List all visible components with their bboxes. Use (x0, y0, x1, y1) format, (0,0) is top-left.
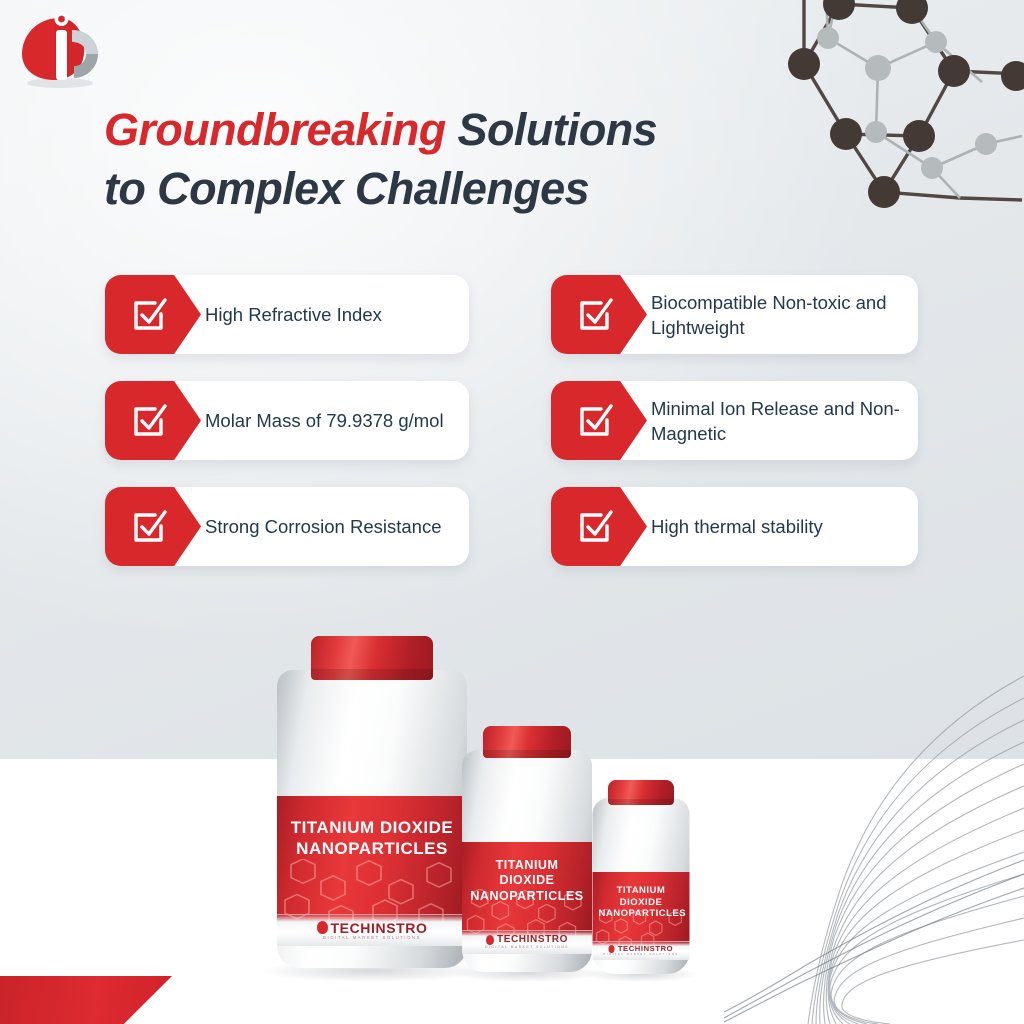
headline-line-2: to Complex Challenges (104, 159, 804, 218)
checkbox-checked-icon (105, 381, 201, 460)
checkbox-checked-icon (105, 487, 201, 566)
brand-name: TECHINSTRO (618, 945, 673, 953)
headline-accent-word: Groundbreaking (104, 104, 446, 155)
product-bottle-large[interactable]: TITANIUM DIOXIDE NANOPARTICLES TECHINSTR… (268, 636, 476, 982)
techinstro-logo-icon (14, 4, 106, 90)
brand-mark-icon (609, 945, 615, 953)
bottle-label-title: TITANIUM DIOXIDE NANOPARTICLES (593, 872, 690, 920)
checkbox-checked-icon (551, 275, 647, 354)
product-bottle-medium[interactable]: TITANIUM DIOXIDE NANOPARTICLES TECHINSTR… (457, 726, 597, 982)
bottle-body: TITANIUM DIOXIDE NANOPARTICLES TECHINSTR… (593, 798, 690, 974)
brand-mark-icon (486, 935, 494, 945)
bottle-label-title: TITANIUM DIOXIDE NANOPARTICLES (277, 796, 467, 859)
feature-card[interactable]: Molar Mass of 79.9378 g/mol (105, 381, 469, 460)
bottle-label-title: TITANIUM DIOXIDE NANOPARTICLES (462, 842, 592, 904)
brand-mark-icon (317, 921, 328, 934)
bottle-cap (608, 780, 674, 805)
bottle-label: TITANIUM DIOXIDE NANOPARTICLES TECHINSTR… (462, 842, 592, 954)
feature-label: Strong Corrosion Resistance (205, 514, 456, 539)
feature-label: Molar Mass of 79.9378 g/mol (205, 408, 458, 433)
bottle-body: TITANIUM DIOXIDE NANOPARTICLES TECHINSTR… (277, 670, 467, 968)
checkbox-checked-icon (105, 275, 201, 354)
product-bottle-small[interactable]: TITANIUM DIOXIDE NANOPARTICLES TECHINSTR… (589, 780, 693, 982)
feature-card[interactable]: Biocompatible Non-toxic and Lightweight (551, 275, 918, 354)
brand-name: TECHINSTRO (331, 921, 428, 935)
bottle-body: TITANIUM DIOXIDE NANOPARTICLES TECHINSTR… (462, 750, 592, 972)
feature-card[interactable]: High thermal stability (551, 487, 918, 566)
feature-label: High thermal stability (651, 514, 837, 539)
infographic-canvas: Groundbreaking Solutions to Complex Chal… (0, 0, 1024, 1024)
feature-label: High Refractive Index (205, 302, 396, 327)
bottle-cap (483, 726, 571, 758)
bottle-brand-block: TECHINSTRO DIGITAL MARKET SOLUTIONS (277, 914, 467, 946)
brand-tagline: DIGITAL MARKET SOLUTIONS (323, 936, 421, 940)
feature-row: Strong Corrosion Resistance High thermal… (105, 487, 920, 566)
bottle-label: TITANIUM DIOXIDE NANOPARTICLES TECHINSTR… (277, 796, 467, 946)
brand-tagline: DIGITAL MARKET SOLUTIONS (485, 946, 569, 949)
headline-line-1: Groundbreaking Solutions (104, 100, 804, 159)
bottle-cap (311, 636, 433, 680)
bottle-brand-block: TECHINSTRO DIGITAL MARKET SOLUTIONS (593, 941, 690, 960)
checkbox-checked-icon (551, 381, 647, 460)
feature-row: High Refractive Index Biocompatible Non-… (105, 275, 920, 354)
checkbox-checked-icon (551, 487, 647, 566)
page-title: Groundbreaking Solutions to Complex Chal… (104, 100, 804, 218)
feature-label: Minimal Ion Release and Non-Magnetic (651, 396, 918, 446)
brand-name: TECHINSTRO (497, 935, 568, 945)
feature-label: Biocompatible Non-toxic and Lightweight (651, 290, 918, 340)
bottle-label: TITANIUM DIOXIDE NANOPARTICLES TECHINSTR… (593, 872, 690, 960)
feature-card[interactable]: Strong Corrosion Resistance (105, 487, 469, 566)
bottle-brand-block: TECHINSTRO DIGITAL MARKET SOLUTIONS (462, 930, 592, 954)
feature-card[interactable]: Minimal Ion Release and Non-Magnetic (551, 381, 918, 460)
feature-list: High Refractive Index Biocompatible Non-… (105, 275, 920, 566)
feature-card[interactable]: High Refractive Index (105, 275, 469, 354)
feature-row: Molar Mass of 79.9378 g/mol Minimal Ion … (105, 381, 920, 460)
headline-rest-line1: Solutions (446, 104, 658, 155)
brand-tagline: DIGITAL MARKET SOLUTIONS (603, 954, 678, 957)
